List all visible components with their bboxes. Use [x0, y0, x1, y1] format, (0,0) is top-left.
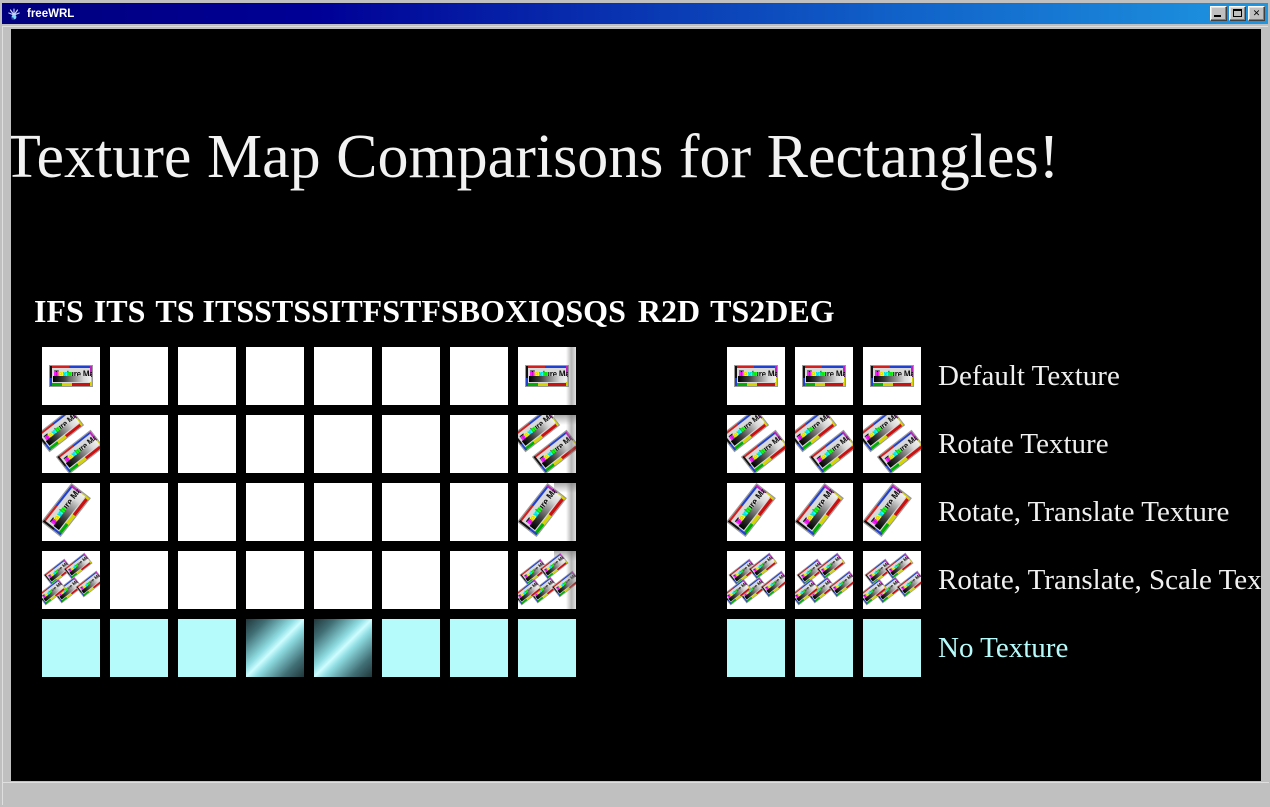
card-edge-left — [735, 366, 737, 386]
texture-tile[interactable] — [314, 483, 372, 541]
freewrl-window: freeWRL ✕ Texture Map Comparisons for Re… — [0, 0, 1270, 807]
texture-map-card: Texture Map — [518, 483, 567, 537]
texture-card-artwork: Texture MapTexture MapTexture MapTexture… — [795, 551, 853, 609]
texture-map-card: Texture Map — [525, 365, 569, 387]
card-edge-bottom — [803, 383, 845, 386]
card-edge-left — [871, 366, 873, 386]
card-gray-ramp — [529, 376, 567, 382]
texture-card-artwork: Texture MapTexture MapTexture MapTexture… — [863, 551, 921, 609]
texture-tile[interactable]: Texture MapTexture MapTexture MapTexture… — [727, 551, 785, 609]
texture-tile[interactable] — [178, 347, 236, 405]
card-edge-bottom — [50, 383, 92, 386]
page-title: Texture Map Comparisons for Rectangles! — [11, 121, 1261, 193]
texture-map-card: Texture Map — [829, 571, 853, 598]
window-frame: Texture Map Comparisons for Rectangles! … — [2, 26, 1268, 805]
texture-tile[interactable]: Texture MapTexture MapTexture MapTexture… — [795, 551, 853, 609]
texture-card-artwork: Texture MapTexture Map — [42, 415, 100, 473]
texture-tile[interactable]: Texture Map — [727, 483, 785, 541]
card-edge-left — [526, 366, 528, 386]
texture-tile[interactable] — [314, 619, 372, 677]
texture-tile[interactable] — [450, 619, 508, 677]
texture-map-card: Texture Map — [76, 571, 100, 598]
texture-tile[interactable]: Texture Map — [518, 347, 576, 405]
texture-tile[interactable] — [246, 483, 304, 541]
texture-tile[interactable]: Texture MapTexture Map — [863, 415, 921, 473]
texture-card-artwork: Texture MapTexture Map — [795, 415, 853, 473]
column-headers: IFSITSTSITSSTSSITFSTFSBOXIQSQSR2DTS2DEG — [34, 293, 835, 331]
render-viewport[interactable]: Texture Map Comparisons for Rectangles! … — [11, 29, 1261, 781]
texture-tile[interactable] — [450, 415, 508, 473]
texture-map-card: Texture Map — [49, 365, 93, 387]
column-header-ts2deg: TS2DEG — [710, 293, 834, 330]
texture-tile[interactable] — [382, 619, 440, 677]
texture-tile[interactable] — [382, 483, 440, 541]
texture-grid-left: Texture MapTexture MapTexture MapTexture… — [42, 347, 576, 677]
texture-tile[interactable] — [110, 347, 168, 405]
texture-card-artwork: Texture MapTexture Map — [863, 415, 921, 473]
row-label: No Texture — [938, 619, 1261, 687]
window-bottom-frame — [3, 782, 1269, 805]
window-title: freeWRL — [27, 8, 74, 20]
column-header-itss: ITSS — [203, 293, 272, 330]
freewrl-logo-icon — [6, 6, 22, 22]
texture-tile[interactable] — [178, 619, 236, 677]
texture-tile[interactable]: Texture MapTexture MapTexture MapTexture… — [42, 551, 100, 609]
texture-tile[interactable]: Texture Map — [42, 347, 100, 405]
card-edge-bottom — [735, 383, 777, 386]
column-header-ts: TS — [155, 293, 194, 330]
texture-map-card: Texture Map — [795, 483, 844, 537]
texture-card-artwork: Texture Map — [727, 483, 785, 541]
row-label: Rotate, Translate, Scale Texture — [938, 551, 1261, 619]
texture-tile[interactable] — [110, 619, 168, 677]
texture-card-artwork: Texture MapTexture Map — [727, 415, 785, 473]
texture-map-card: Texture Map — [802, 365, 846, 387]
texture-card-artwork: Texture Map — [518, 347, 576, 405]
texture-card-artwork: Texture Map — [727, 347, 785, 405]
card-edge-left — [50, 366, 52, 386]
texture-tile[interactable] — [450, 347, 508, 405]
maximize-icon — [1233, 9, 1242, 17]
texture-tile[interactable] — [246, 619, 304, 677]
texture-tile[interactable] — [795, 619, 853, 677]
texture-tile[interactable] — [382, 415, 440, 473]
texture-tile[interactable] — [518, 619, 576, 677]
column-header-iqs: IQS — [528, 293, 583, 330]
close-button[interactable]: ✕ — [1248, 6, 1265, 21]
column-header-itfs: ITFS — [329, 293, 400, 330]
texture-tile[interactable] — [42, 619, 100, 677]
texture-card-artwork: Texture Map — [42, 347, 100, 405]
texture-map-card: Texture Map — [42, 483, 91, 537]
maximize-button[interactable] — [1229, 6, 1246, 21]
texture-map-card: Texture Map — [734, 365, 778, 387]
column-header-its: ITS — [94, 293, 146, 330]
minimize-button[interactable] — [1210, 6, 1227, 21]
column-header-r2d: R2D — [638, 293, 700, 330]
texture-card-artwork: Texture Map — [863, 483, 921, 541]
texture-card-artwork: Texture Map — [863, 347, 921, 405]
texture-card-artwork: Texture MapTexture MapTexture MapTexture… — [42, 551, 100, 609]
texture-tile[interactable]: Texture MapTexture Map — [795, 415, 853, 473]
minimize-icon — [1214, 15, 1221, 17]
texture-tile[interactable]: Texture Map — [795, 483, 853, 541]
texture-tile[interactable]: Texture Map — [42, 483, 100, 541]
texture-card-artwork: Texture MapTexture Map — [518, 415, 576, 473]
row-label: Rotate, Translate Texture — [938, 483, 1261, 551]
texture-tile[interactable] — [314, 551, 372, 609]
texture-tile[interactable]: Texture Map — [863, 347, 921, 405]
texture-card-artwork: Texture MapTexture MapTexture MapTexture… — [727, 551, 785, 609]
texture-tile[interactable] — [178, 415, 236, 473]
texture-map-card: Texture Map — [863, 483, 912, 537]
title-bar[interactable]: freeWRL ✕ — [2, 3, 1268, 24]
row-label: Rotate Texture — [938, 415, 1261, 483]
card-gray-ramp — [53, 376, 91, 382]
card-edge-left — [803, 366, 805, 386]
texture-tile[interactable] — [246, 551, 304, 609]
texture-tile[interactable]: Texture MapTexture Map — [518, 415, 576, 473]
card-gray-ramp — [874, 376, 912, 382]
texture-tile[interactable]: Texture Map — [727, 347, 785, 405]
texture-tile[interactable] — [110, 483, 168, 541]
texture-tile[interactable] — [863, 619, 921, 677]
texture-map-card: Texture Map — [552, 571, 576, 598]
texture-tile[interactable] — [314, 415, 372, 473]
column-header-tss: TSS — [272, 293, 329, 330]
texture-tile[interactable] — [246, 415, 304, 473]
texture-grid-right: Texture MapTexture MapTexture MapTexture… — [727, 347, 921, 677]
texture-tile[interactable]: Texture MapTexture Map — [42, 415, 100, 473]
texture-map-card: Texture Map — [870, 365, 914, 387]
texture-tile[interactable]: Texture MapTexture Map — [727, 415, 785, 473]
texture-tile[interactable] — [450, 551, 508, 609]
row-labels: Default TextureRotate TextureRotate, Tra… — [938, 347, 1261, 687]
card-edge-bottom — [526, 383, 568, 386]
texture-card-artwork: Texture Map — [518, 483, 576, 541]
row-label: Default Texture — [938, 347, 1261, 415]
card-gray-ramp — [738, 376, 776, 382]
texture-card-artwork: Texture Map — [795, 347, 853, 405]
texture-card-artwork: Texture Map — [42, 483, 100, 541]
texture-tile[interactable]: Texture Map — [518, 483, 576, 541]
texture-tile[interactable] — [314, 347, 372, 405]
texture-tile[interactable] — [110, 551, 168, 609]
window-controls: ✕ — [1210, 6, 1265, 21]
column-header-tfs: TFS — [400, 293, 459, 330]
texture-tile[interactable] — [727, 619, 785, 677]
texture-tile[interactable]: Texture Map — [863, 483, 921, 541]
column-header-ifs: IFS — [34, 293, 84, 330]
close-icon: ✕ — [1249, 7, 1264, 20]
texture-tile[interactable] — [110, 415, 168, 473]
texture-map-card: Texture Map — [761, 571, 785, 598]
texture-tile[interactable] — [382, 347, 440, 405]
column-header-box: BOX — [459, 293, 528, 330]
texture-card-artwork: Texture Map — [795, 483, 853, 541]
texture-tile[interactable] — [382, 551, 440, 609]
texture-tile[interactable]: Texture MapTexture MapTexture MapTexture… — [863, 551, 921, 609]
texture-tile[interactable]: Texture Map — [795, 347, 853, 405]
card-edge-bottom — [871, 383, 913, 386]
texture-tile[interactable] — [178, 551, 236, 609]
texture-tile[interactable] — [450, 483, 508, 541]
texture-tile[interactable] — [178, 483, 236, 541]
texture-tile[interactable]: Texture MapTexture MapTexture MapTexture… — [518, 551, 576, 609]
texture-tile[interactable] — [246, 347, 304, 405]
column-header-qs: QS — [583, 293, 626, 330]
texture-card-artwork: Texture MapTexture MapTexture MapTexture… — [518, 551, 576, 609]
texture-map-card: Texture Map — [727, 483, 776, 537]
card-gray-ramp — [806, 376, 844, 382]
texture-map-card: Texture Map — [897, 571, 921, 598]
